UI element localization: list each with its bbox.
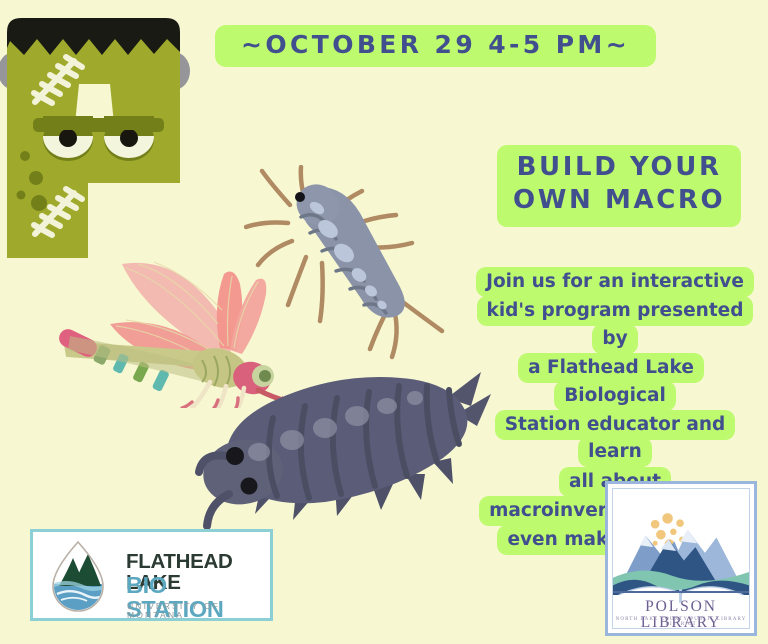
isopod-pillbug-illustration xyxy=(185,358,500,538)
date-banner: ~OCTOBER 29 4-5 PM~ xyxy=(215,25,656,67)
mountains-book-icon xyxy=(613,495,749,605)
isopod-eye-lower xyxy=(241,478,258,495)
flathead-logo-line-3: UNIVERSITY OF MONTANA xyxy=(127,602,270,619)
body-copy-line-text: Station educator and learn xyxy=(497,412,734,465)
body-copy-line: kid's program presented by xyxy=(472,297,758,352)
isopod-eye-upper xyxy=(226,447,244,465)
body-copy-line-text: kid's program presented by xyxy=(479,298,752,351)
body-copy-line: a Flathead Lake Biological xyxy=(472,354,758,409)
body-copy-line: Join us for an interactive xyxy=(472,268,758,295)
body-copy-line-text: Join us for an interactive xyxy=(478,269,752,295)
headline: BUILD YOUR OWN MACRO xyxy=(497,145,741,227)
polson-logo-inner-frame: POLSON LIBRARY NORTH LAKE COUNTY PUBLIC … xyxy=(612,488,750,629)
polson-library-logo: POLSON LIBRARY NORTH LAKE COUNTY PUBLIC … xyxy=(605,481,757,636)
water-drop-mountain-icon xyxy=(41,538,115,616)
body-copy-line: Station educator and learn xyxy=(472,411,758,466)
poster-canvas: ~OCTOBER 29 4-5 PM~ BUILD YOUR OWN MACRO… xyxy=(0,0,768,644)
headline-line-1: BUILD YOUR xyxy=(513,151,725,184)
headline-line-2: OWN MACRO xyxy=(513,184,725,217)
polson-divider xyxy=(613,591,749,593)
stonefly-eye xyxy=(295,192,305,202)
flathead-lake-bio-station-logo: FLATHEAD LAKE BIO STATION UNIVERSITY OF … xyxy=(30,529,273,621)
polson-logo-subtitle: NORTH LAKE COUNTY PUBLIC LIBRARY DISTRIC… xyxy=(613,617,749,627)
body-copy-line-text: a Flathead Lake Biological xyxy=(520,355,702,408)
frankenstein-head-illustration xyxy=(0,8,206,273)
